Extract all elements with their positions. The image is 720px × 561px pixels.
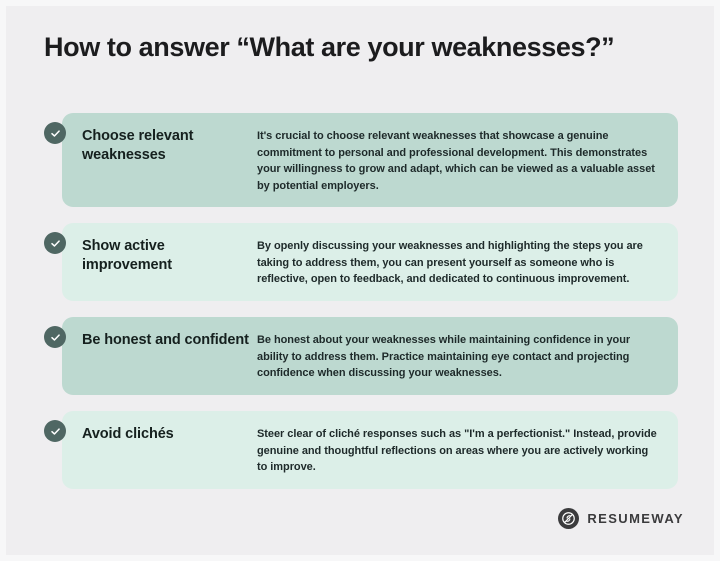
tip-card: Be honest and confidentBe honest about y… [62, 317, 678, 395]
tip-card-inner: Avoid clichésSteer clear of cliché respo… [62, 411, 678, 489]
tip-body: Steer clear of cliché responses such as … [257, 424, 660, 476]
tip-body: Be honest about your weaknesses while ma… [257, 330, 660, 382]
tip-card-inner: Be honest and confidentBe honest about y… [62, 317, 678, 395]
tip-card: Avoid clichésSteer clear of cliché respo… [62, 411, 678, 489]
tip-card-inner: Show active improvementBy openly discuss… [62, 223, 678, 301]
tip-heading: Avoid clichés [82, 424, 257, 444]
tip-heading: Show active improvement [82, 236, 257, 275]
check-circle-icon [44, 420, 66, 442]
tip-card-inner: Choose relevant weaknessesIt's crucial t… [62, 113, 678, 207]
check-circle-icon [44, 326, 66, 348]
infographic-page: How to answer “What are your weaknesses?… [0, 0, 720, 561]
tip-heading: Choose relevant weaknesses [82, 126, 257, 165]
check-circle-icon [44, 232, 66, 254]
brand-name: RESUMEWAY [587, 511, 684, 526]
tip-card: Choose relevant weaknessesIt's crucial t… [62, 113, 678, 207]
brand-logo: RESUMEWAY [558, 508, 684, 529]
page-title: How to answer “What are your weaknesses?… [44, 30, 684, 64]
resumeway-slash-circle-icon [558, 508, 579, 529]
tip-body: It's crucial to choose relevant weakness… [257, 126, 660, 194]
tip-card: Show active improvementBy openly discuss… [62, 223, 678, 301]
tip-body: By openly discussing your weaknesses and… [257, 236, 660, 288]
tip-heading: Be honest and confident [82, 330, 257, 350]
check-circle-icon [44, 122, 66, 144]
